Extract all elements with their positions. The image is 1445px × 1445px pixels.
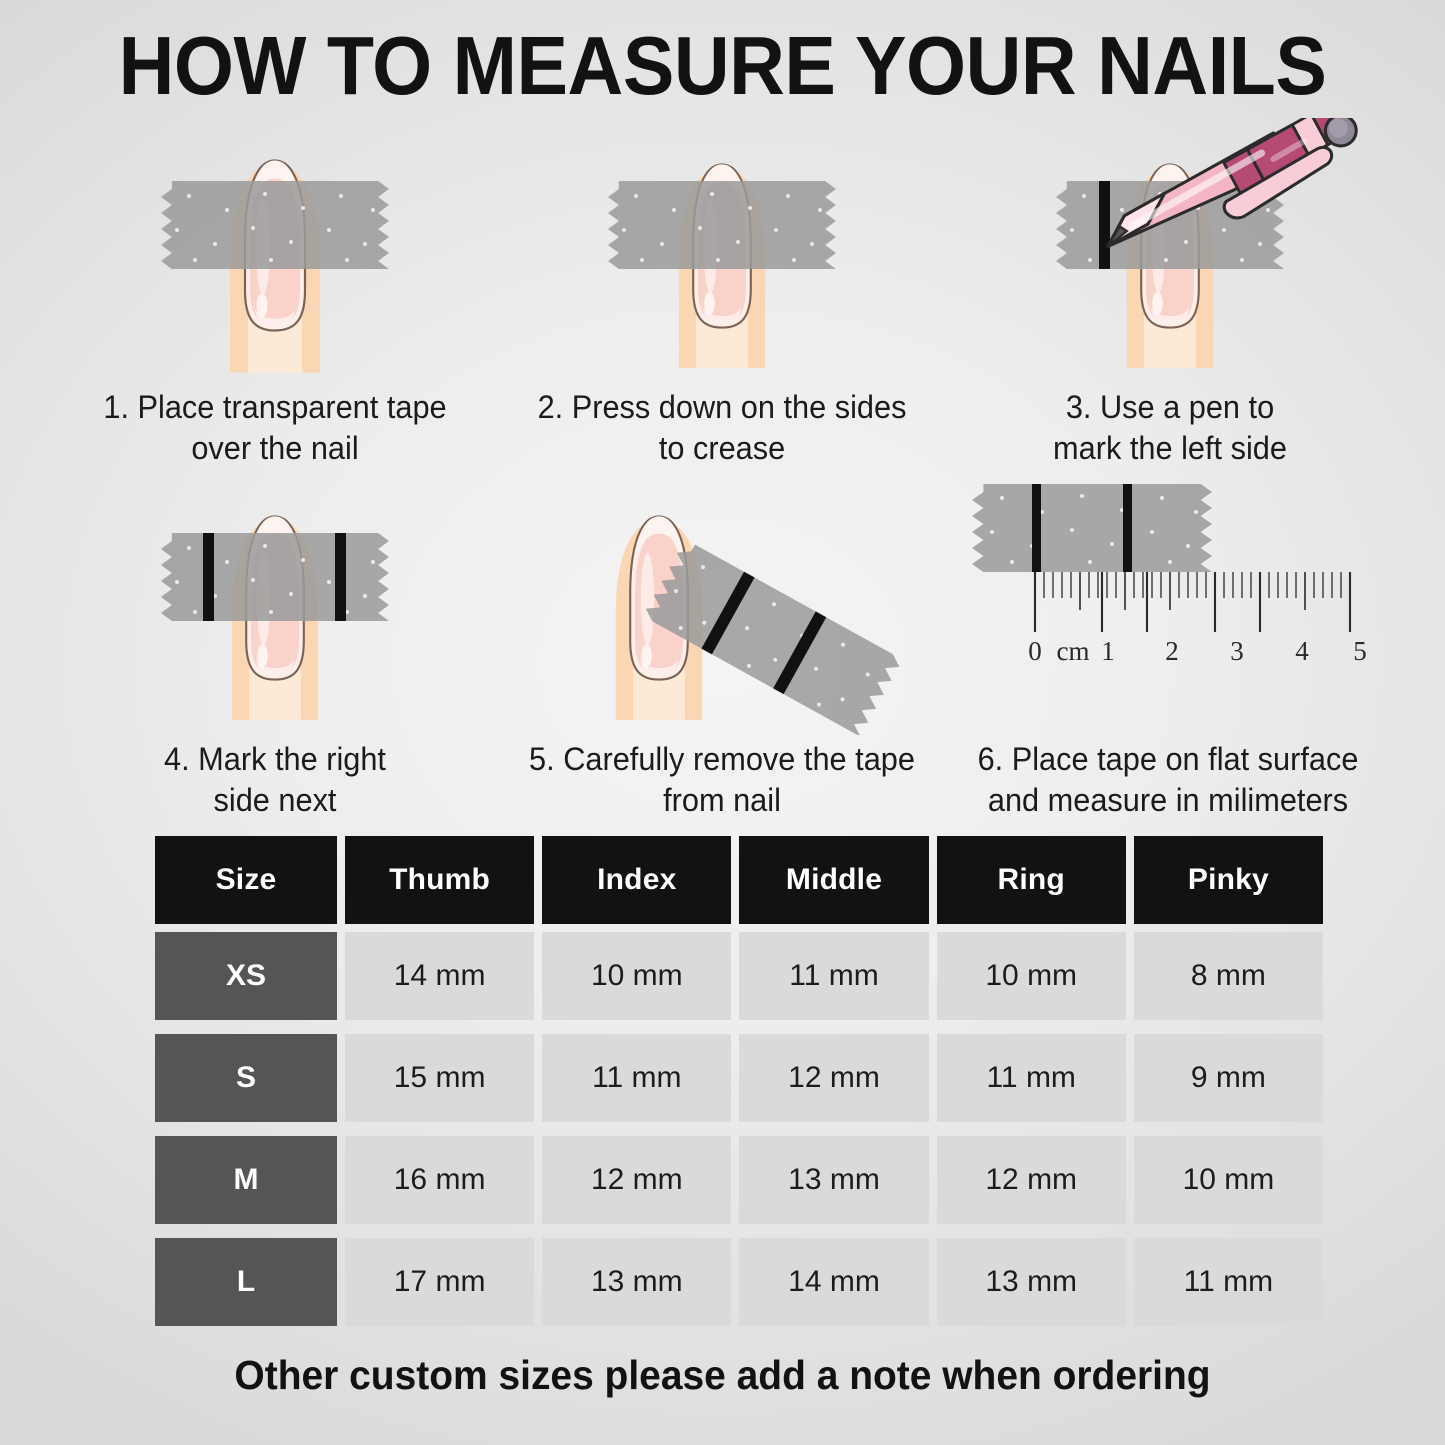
tape-strip [161, 533, 389, 621]
ruler-label-cm: cm [1057, 636, 1090, 666]
footer-note: Other custom sizes please add a note whe… [36, 1352, 1409, 1399]
cell-m-ring: 12 mm [937, 1136, 1126, 1224]
table-header-thumb: Thumb [345, 836, 534, 924]
step-6-caption-line2: and measure in milimeters [957, 780, 1379, 821]
cell-l-middle: 14 mm [739, 1238, 928, 1326]
cell-xs-pinky: 8 mm [1134, 932, 1323, 1020]
step-6: 0 cm 1 2 3 4 5 6. Place tape on flat sur… [960, 470, 1380, 821]
cell-s-middle: 12 mm [739, 1034, 928, 1122]
cell-m-index: 12 mm [542, 1136, 731, 1224]
ruler-labels: 0 cm 1 2 3 4 5 [1028, 636, 1367, 666]
cell-m-thumb: 16 mm [345, 1136, 534, 1224]
cell-xs-index: 10 mm [542, 932, 731, 1020]
step-4-caption-line2: side next [73, 780, 476, 821]
step-1-svg [65, 118, 485, 383]
step-2: 2. Press down on the sides to crease [512, 118, 932, 469]
cell-m-middle: 13 mm [739, 1136, 928, 1224]
size-label-xs: XS [155, 932, 337, 1020]
table-header-index: Index [542, 836, 731, 924]
table-row: M 16 mm 12 mm 13 mm 12 mm 10 mm [155, 1136, 1323, 1224]
table-row: L 17 mm 13 mm 14 mm 13 mm 11 mm [155, 1238, 1323, 1326]
step-2-caption: 2. Press down on the sides to crease [520, 387, 923, 469]
size-chart-table: Size Thumb Index Middle Ring Pinky XS 14… [155, 836, 1323, 1334]
cell-s-pinky: 9 mm [1134, 1034, 1323, 1122]
size-label-s: S [155, 1034, 337, 1122]
cell-l-pinky: 11 mm [1134, 1238, 1323, 1326]
step-3: 3. Use a pen to mark the left side [960, 118, 1380, 469]
step-4: 4. Mark the right side next [65, 470, 485, 821]
step-6-illustration: 0 cm 1 2 3 4 5 [960, 470, 1380, 735]
step-2-caption-line1: 2. Press down on the sides [520, 387, 923, 428]
step-5-caption-line1: 5. Carefully remove the tape [520, 739, 923, 780]
step-1-illustration [65, 118, 485, 383]
tape-strip [972, 484, 1212, 572]
cell-xs-middle: 11 mm [739, 932, 928, 1020]
table-header-row: Size Thumb Index Middle Ring Pinky [155, 836, 1323, 924]
cell-s-ring: 11 mm [937, 1034, 1126, 1122]
ruler-label-3: 3 [1230, 636, 1244, 666]
cell-l-index: 13 mm [542, 1238, 731, 1326]
step-1-caption-line2: over the nail [73, 428, 476, 469]
cell-l-thumb: 17 mm [345, 1238, 534, 1326]
table-row: XS 14 mm 10 mm 11 mm 10 mm 8 mm [155, 932, 1323, 1020]
size-label-m: M [155, 1136, 337, 1224]
step-5-caption-line2: from nail [520, 780, 923, 821]
tape-strip [608, 181, 836, 269]
step-2-caption-line2: to crease [520, 428, 923, 469]
step-3-caption-line2: mark the left side [968, 428, 1371, 469]
ruler-label-2: 2 [1165, 636, 1179, 666]
table-row: S 15 mm 11 mm 12 mm 11 mm 9 mm [155, 1034, 1323, 1122]
cell-s-thumb: 15 mm [345, 1034, 534, 1122]
step-6-caption: 6. Place tape on flat surface and measur… [957, 739, 1379, 821]
cell-l-ring: 13 mm [937, 1238, 1126, 1326]
step-6-caption-line1: 6. Place tape on flat surface [957, 739, 1379, 780]
step-1: 1. Place transparent tape over the nail [65, 118, 485, 469]
left-mark [1099, 181, 1110, 269]
page-title: HOW TO MEASURE YOUR NAILS [51, 22, 1395, 110]
step-5: 5. Carefully remove the tape from nail [512, 470, 932, 821]
ruler-label-5: 5 [1353, 636, 1367, 666]
ruler-label-4: 4 [1295, 636, 1309, 666]
step-6-svg: 0 cm 1 2 3 4 5 [960, 470, 1380, 735]
step-5-caption: 5. Carefully remove the tape from nail [520, 739, 923, 821]
right-mark [1123, 484, 1132, 572]
step-3-caption-line1: 3. Use a pen to [968, 387, 1371, 428]
step-2-svg [512, 118, 932, 383]
cell-xs-ring: 10 mm [937, 932, 1126, 1020]
right-mark [335, 533, 346, 621]
step-5-svg [512, 470, 932, 735]
ruler-label-0: 0 [1028, 636, 1042, 666]
table-header-ring: Ring [937, 836, 1126, 924]
step-3-svg [960, 118, 1380, 383]
step-3-caption: 3. Use a pen to mark the left side [968, 387, 1371, 469]
cell-s-index: 11 mm [542, 1034, 731, 1122]
step-4-svg [65, 470, 485, 735]
step-5-illustration [512, 470, 932, 735]
cell-m-pinky: 10 mm [1134, 1136, 1323, 1224]
step-3-illustration [960, 118, 1380, 383]
ruler [1035, 572, 1350, 632]
table-header-pinky: Pinky [1134, 836, 1323, 924]
step-1-caption-line1: 1. Place transparent tape [73, 387, 476, 428]
step-2-illustration [512, 118, 932, 383]
left-mark [203, 533, 214, 621]
step-4-caption-line1: 4. Mark the right [73, 739, 476, 780]
size-label-l: L [155, 1238, 337, 1326]
table-header-middle: Middle [739, 836, 928, 924]
step-1-caption: 1. Place transparent tape over the nail [73, 387, 476, 469]
cell-xs-thumb: 14 mm [345, 932, 534, 1020]
tape-strip [161, 181, 389, 269]
step-4-caption: 4. Mark the right side next [73, 739, 476, 821]
table-header-size: Size [155, 836, 337, 924]
step-4-illustration [65, 470, 485, 735]
infographic-page: HOW TO MEASURE YOUR NAILS [0, 0, 1445, 1445]
left-mark [1032, 484, 1041, 572]
ruler-label-1: 1 [1101, 636, 1115, 666]
